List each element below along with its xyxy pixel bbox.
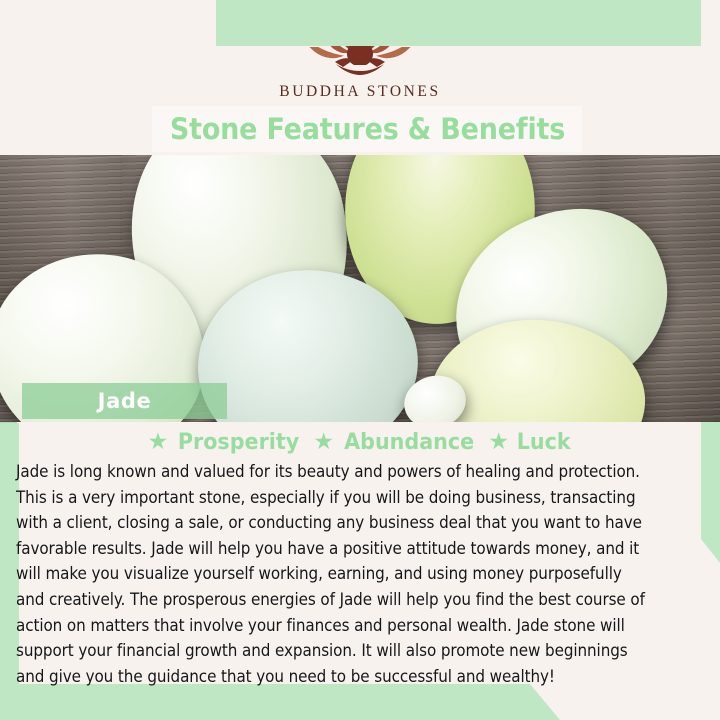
benefit-item-abundance: ★ Abundance bbox=[313, 430, 478, 455]
star-icon: ★ bbox=[488, 430, 509, 453]
star-icon: ★ bbox=[148, 430, 169, 453]
infographic-page: BUDDHA STONES Stone Features & Benefits … bbox=[0, 0, 720, 720]
decorative-top-green-band bbox=[188, 0, 720, 46]
stone-name-banner: Jade bbox=[22, 383, 227, 419]
benefit-item-luck: ★ Luck bbox=[488, 430, 572, 455]
stone-description: Jade is long known and valued for its be… bbox=[16, 459, 649, 689]
title-band: Stone Features & Benefits bbox=[152, 106, 582, 152]
benefit-label: Prosperity bbox=[178, 430, 299, 455]
stone-photo bbox=[0, 152, 720, 422]
benefit-item-prosperity: ★ Prosperity bbox=[148, 430, 304, 455]
brand-name: BUDDHA STONES bbox=[279, 83, 440, 101]
benefit-label: Luck bbox=[517, 430, 571, 455]
benefits-row: ★ Prosperity ★ Abundance ★ Luck bbox=[0, 430, 720, 455]
stone-name-label: Jade bbox=[98, 389, 152, 413]
star-icon: ★ bbox=[313, 430, 334, 453]
decorative-bottom-green-band bbox=[0, 684, 560, 720]
benefit-label: Abundance bbox=[344, 430, 474, 455]
page-title: Stone Features & Benefits bbox=[169, 112, 564, 146]
